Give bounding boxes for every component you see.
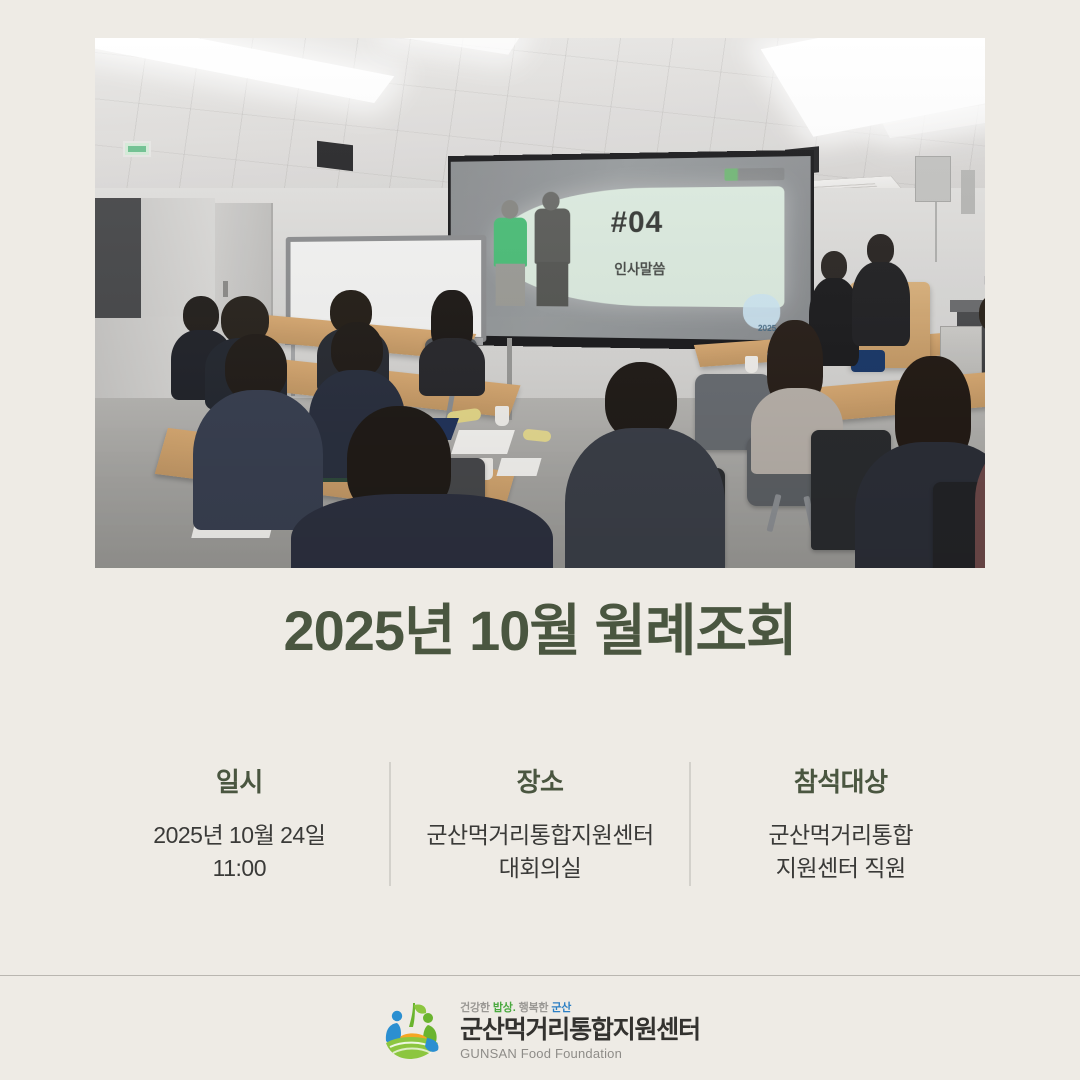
illustration-figure-green	[494, 218, 527, 267]
projection-surface: #04 인사말씀 2025	[451, 156, 811, 341]
slide-number: #04	[611, 205, 664, 239]
info-row: 일시 2025년 10월 24일 11:00 장소 군산먹거리통합지원센터 대회…	[90, 762, 990, 886]
tagline-part-1: 건강한	[460, 999, 490, 1015]
speaker-icon	[317, 141, 353, 171]
info-value: 2025년 10월 24일 11:00	[100, 819, 379, 886]
info-value-line: 대회의실	[401, 852, 680, 885]
info-column-date: 일시 2025년 10월 24일 11:00	[90, 762, 389, 886]
illustration-legs	[496, 264, 525, 306]
illustration-figure-dark	[535, 208, 570, 264]
event-photo: #04 인사말씀 2025	[95, 38, 985, 568]
wall-control-box	[915, 156, 951, 202]
info-value-line: 2025년 10월 24일	[100, 819, 379, 852]
slide-logo-icon	[724, 167, 784, 180]
attendee-seated	[565, 428, 725, 568]
tagline-part-4: 군산	[551, 999, 571, 1015]
illustration-legs	[537, 262, 568, 306]
paper-cup	[745, 356, 758, 373]
tagline-part-3: 행복한	[519, 999, 549, 1015]
info-label: 참석대상	[701, 762, 980, 799]
info-column-location: 장소 군산먹거리통합지원센터 대회의실	[389, 762, 690, 886]
info-value: 군산먹거리통합지원센터 대회의실	[401, 819, 680, 886]
attendee-head	[183, 296, 219, 334]
footer: 건강한 밥상. 행복한 군산 군산먹거리통합지원센터 GUNSAN Food F…	[0, 980, 1080, 1080]
info-value-line: 군산먹거리통합	[701, 819, 980, 852]
attendee-seated	[419, 338, 485, 396]
presenter-head	[821, 251, 847, 281]
paper-cup	[495, 406, 509, 426]
poster-root: #04 인사말씀 2025	[0, 0, 1080, 1080]
wall-control-box	[961, 170, 975, 214]
gunsan-food-foundation-logo-icon	[380, 997, 446, 1063]
info-value-line: 지원센터 직원	[701, 852, 980, 885]
presenter-head	[867, 234, 894, 265]
exit-sign-icon	[123, 141, 151, 157]
doorway	[95, 198, 141, 318]
info-column-attendees: 참석대상 군산먹거리통합 지원센터 직원	[689, 762, 990, 886]
slide-subtitle: 인사말씀	[614, 259, 665, 279]
footer-divider	[0, 975, 1080, 976]
info-label: 장소	[401, 762, 680, 799]
page-title: 2025년 10월 월례조회	[0, 600, 1080, 662]
projection-screen: #04 인사말씀 2025	[448, 150, 814, 351]
info-label: 일시	[100, 762, 379, 799]
slide-illustration	[488, 192, 586, 309]
logo-name-ko: 군산먹거리통합지원센터	[460, 1017, 700, 1043]
attendee-seated	[193, 390, 323, 530]
logo-text: 건강한 밥상. 행복한 군산 군산먹거리통합지원센터 GUNSAN Food F…	[460, 999, 700, 1060]
document-paper	[451, 430, 515, 454]
attendee-seated	[291, 494, 553, 568]
logo-name-en: GUNSAN Food Foundation	[460, 1046, 700, 1061]
wall-conduit	[935, 202, 937, 262]
info-value-line: 군산먹거리통합지원센터	[401, 819, 680, 852]
presenter-man	[852, 262, 910, 346]
document-paper	[496, 458, 541, 476]
tagline-part-2: 밥상.	[493, 999, 516, 1015]
info-value: 군산먹거리통합 지원센터 직원	[701, 819, 980, 886]
logo-tagline: 건강한 밥상. 행복한 군산	[460, 999, 700, 1015]
info-value-line: 11:00	[100, 852, 379, 885]
photo-scene: #04 인사말씀 2025	[95, 38, 985, 568]
illustration-head	[502, 200, 518, 219]
